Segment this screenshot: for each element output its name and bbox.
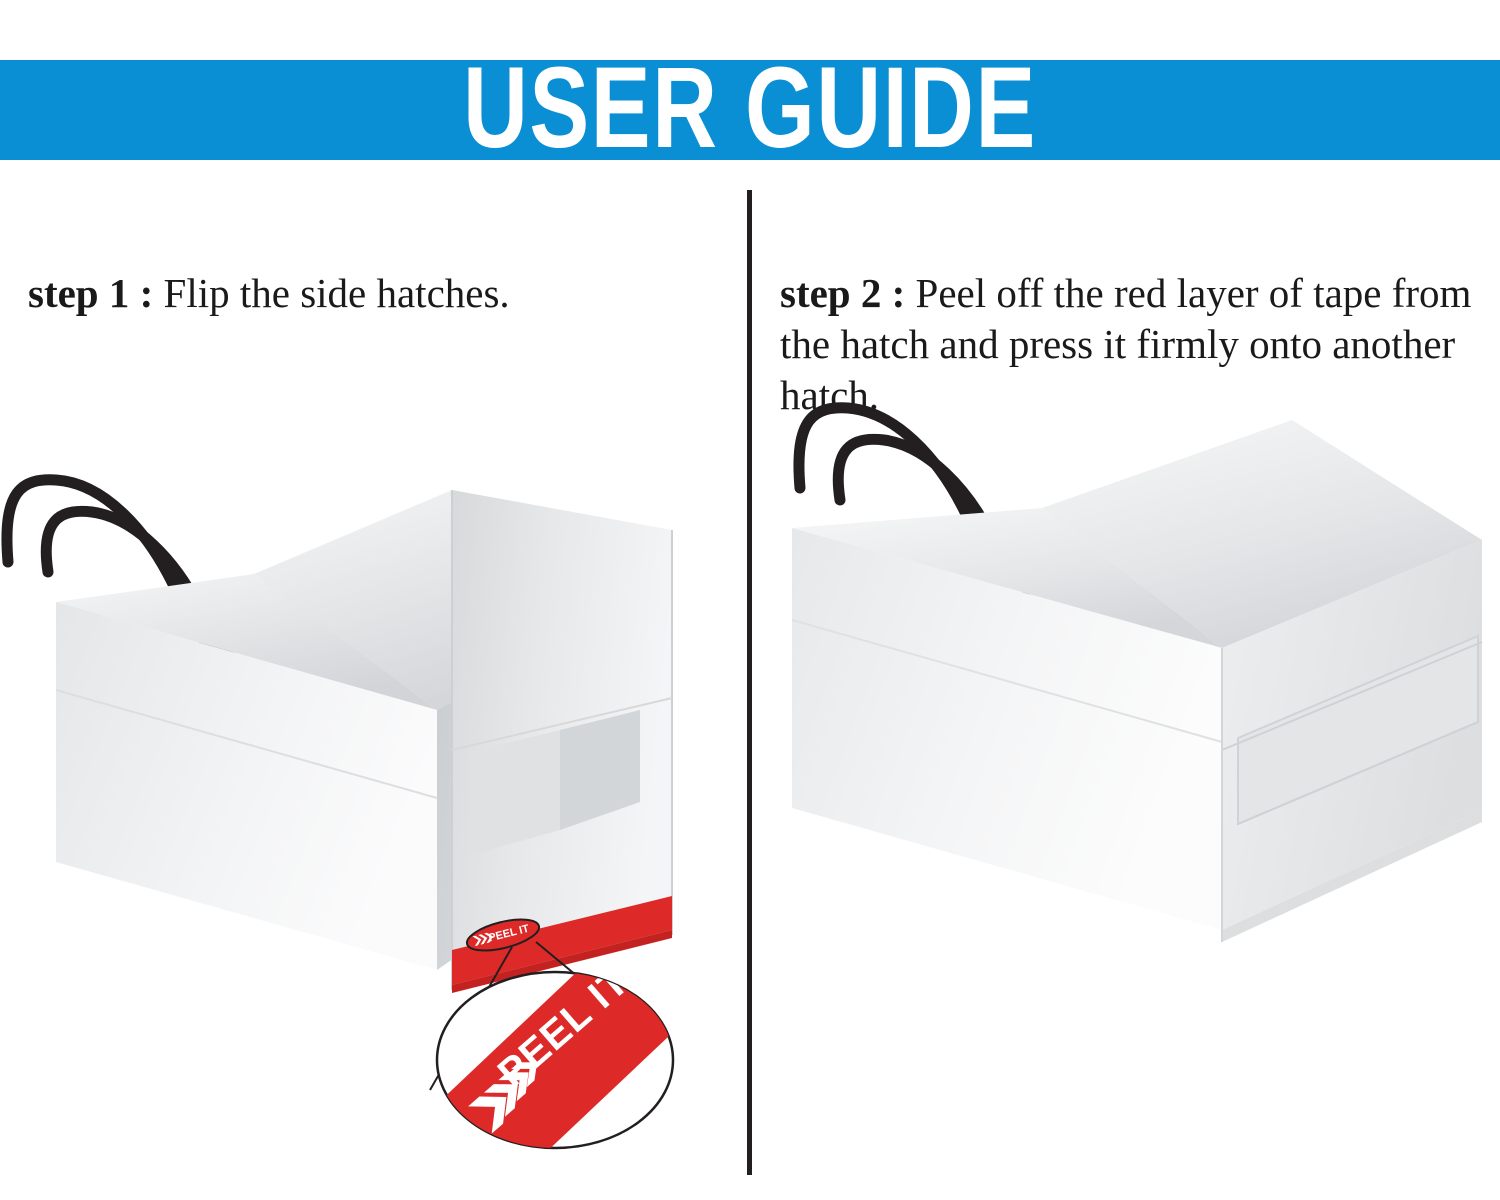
red-tape-strip-edge (452, 930, 672, 993)
box-lid-seam (56, 690, 437, 798)
rope-handles-icon (799, 408, 1028, 590)
magnifier-red-band (380, 950, 747, 1158)
magnifier-outline (437, 972, 673, 1148)
box-front-right-face (437, 595, 640, 970)
step-1-text: step 1 : Flip the side hatches. (28, 268, 688, 319)
step-2-text: step 2 : Peel off the red layer of tape … (780, 268, 1498, 421)
step-2-label: step 2 : (780, 270, 905, 316)
hatch-flap-crease (452, 698, 672, 750)
hatch-flap (452, 490, 672, 990)
sealed-hatch-flap (1238, 636, 1478, 824)
hatch-seam-bottom (1238, 722, 1478, 824)
peel-it-magnifier: PEEL IT (380, 950, 747, 1158)
hatch-opening-inner (470, 688, 608, 764)
step-1-instruction: Flip the side hatches. (164, 270, 510, 316)
hatch-inner-flap (470, 730, 560, 855)
magnifier-label: PEEL IT (490, 959, 638, 1095)
hatch-seam-top (1222, 642, 1482, 750)
step-1-label: step 1 : (28, 270, 153, 316)
box-top-face-left (792, 508, 1222, 648)
hatch-inner-flap-shade (560, 710, 640, 830)
panel-step-1: step 1 : Flip the side hatches. (0, 190, 747, 1180)
rope-handles-icon (7, 480, 236, 662)
box-top-face (238, 575, 640, 642)
box-front-right-face (1222, 540, 1482, 930)
callout-lines (430, 942, 600, 1090)
box-top-face-main (56, 575, 484, 702)
box-front-left-face (792, 528, 1222, 930)
illustration-box-with-flipped-hatch: PEEL IT PEEL IT (0, 190, 747, 1180)
magnifier-chevrons-icon (468, 1053, 553, 1133)
box-lid-top-2 (56, 574, 437, 710)
peel-it-badge-chevrons-icon (472, 932, 494, 947)
box-lid-top (254, 490, 640, 710)
panel-step-2: step 2 : Peel off the red layer of tape … (752, 190, 1500, 1180)
box-bottom-edge (1222, 810, 1482, 942)
box-front-left-face (56, 602, 437, 970)
hatch-opening-recess (470, 688, 600, 850)
box-top-face (1042, 420, 1482, 648)
peel-it-badge-label: PEEL IT (487, 923, 530, 945)
page-title: USER GUIDE (165, 48, 1335, 168)
peel-it-badge: PEEL IT (464, 913, 542, 956)
red-tape-strip (452, 896, 672, 985)
box-lid-seam (792, 620, 1222, 742)
